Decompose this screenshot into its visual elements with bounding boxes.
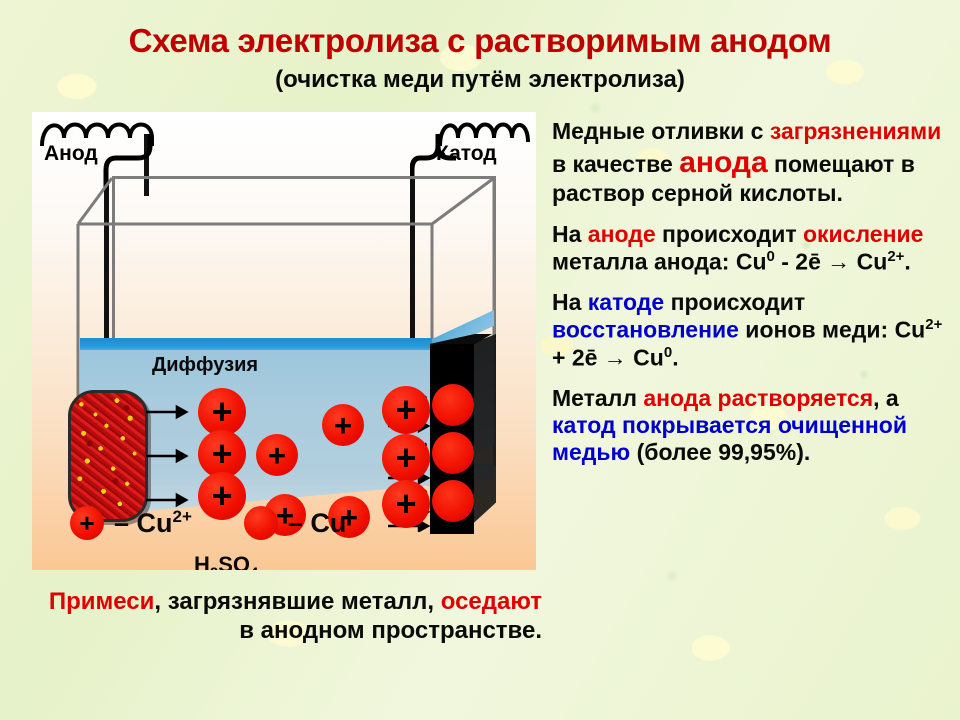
ion-plus-icon: + [395, 440, 416, 476]
p2-cu-2plus-sup: 2+ [887, 248, 904, 265]
copper-ion: + [382, 434, 430, 482]
ion-plus-icon: + [334, 410, 352, 441]
p3-part6: + 2ē → Cu [552, 345, 664, 371]
p2-part1: На [552, 221, 588, 247]
paragraph-anode-setup: Медные отливки с загрязнениями в качеств… [552, 118, 952, 207]
acid-h: H [194, 552, 210, 570]
acid-sub2: 4 [250, 564, 258, 570]
legend-cu-ion-text: – Cu [114, 508, 173, 538]
p3-cu-2plus-sup: 2+ [925, 316, 942, 333]
legend-cu-metal-text: – Cu [288, 508, 347, 538]
acid-so: SO [218, 552, 250, 570]
header: Схема электролиза с растворимым анодом (… [0, 0, 960, 94]
ion-plus-icon: + [395, 392, 416, 428]
caption-settle-highlight: оседают [441, 588, 542, 615]
explanation-text-column: Медные отливки с загрязнениями в качеств… [552, 118, 952, 480]
electrolyte-formula-label: H2SO4 [194, 552, 258, 570]
p2-cu-zero-sup: 0 [767, 248, 775, 265]
copper-ion: + [198, 388, 246, 436]
legend-plus-icon: + [79, 510, 94, 536]
p3-part5: ионов меди: Cu [739, 317, 925, 343]
p2-part5: металла анода: Cu [552, 248, 767, 274]
caption-part2: , загрязнявшие металл, [154, 588, 440, 615]
legend-swatch-metal [244, 506, 278, 540]
p4-part3: , а [873, 385, 899, 411]
p4-purity-value: (более 99,95%). [630, 439, 810, 465]
impurities-caption: Примеси, загрязнявшие металл, оседают в … [30, 588, 542, 646]
copper-deposit [432, 384, 474, 426]
paragraph-result: Металл анода растворяется, а катод покры… [552, 385, 952, 466]
p3-part3: происходит [664, 289, 805, 315]
page-subtitle: (очистка меди путём электролиза) [0, 60, 960, 94]
legend-item-cu-metal: – Cu [244, 506, 347, 540]
paragraph-cathode-reaction: На катоде происходит восстановление ионо… [552, 289, 952, 371]
ion-plus-icon: + [211, 436, 232, 472]
diffusion-label: Диффузия [152, 354, 258, 377]
copper-ion: + [322, 404, 364, 446]
p3-cu-zero-sup: 0 [664, 344, 672, 361]
p4-part1: Металл [552, 385, 643, 411]
legend-label-cu-metal: – Cu [288, 508, 347, 539]
legend-swatch-ion: + [70, 506, 104, 540]
electrolysis-diagram: Анод Катод Диффузия H2SO4 [32, 112, 536, 570]
p1-part3: в качестве [552, 151, 679, 177]
acid-sub1: 2 [210, 564, 218, 570]
p1-impurities-highlight: загрязнениями [770, 118, 941, 144]
p3-part1: На [552, 289, 588, 315]
p4-anode-dissolves-highlight: анода растворяется [643, 385, 873, 411]
page-title: Схема электролиза с растворимым анодом [0, 0, 960, 60]
caption-part4: в анодном пространстве. [239, 617, 542, 644]
copper-ion: + [382, 386, 430, 434]
copper-deposit [432, 432, 474, 474]
p1-anode-highlight: анода [679, 146, 767, 179]
p1-part1: Медные отливки с [552, 118, 770, 144]
legend: + – Cu2+ – Cu [32, 496, 536, 550]
legend-item-cu-ion: + – Cu2+ [70, 506, 192, 540]
legend-cu-ion-charge: 2+ [173, 507, 192, 526]
copper-ion: + [198, 430, 246, 478]
ion-plus-icon: + [268, 440, 286, 471]
caption-impurities-highlight: Примеси [49, 588, 155, 615]
legend-label-cu-ion: – Cu2+ [114, 507, 192, 539]
copper-ion: + [256, 434, 298, 476]
p3-cathode-highlight: катоде [588, 289, 664, 315]
ion-plus-icon: + [211, 394, 232, 430]
p2-part7: . [904, 248, 910, 274]
paragraph-anode-reaction: На аноде происходит окисление металла ан… [552, 221, 952, 275]
p3-part7: . [672, 345, 678, 371]
p2-part6: - 2ē → Cu [775, 248, 887, 274]
p2-anode-highlight: аноде [588, 221, 656, 247]
p3-reduction-highlight: восстановление [552, 317, 739, 343]
p2-part3: происходит [656, 221, 803, 247]
p2-oxidation-highlight: окисление [803, 221, 923, 247]
